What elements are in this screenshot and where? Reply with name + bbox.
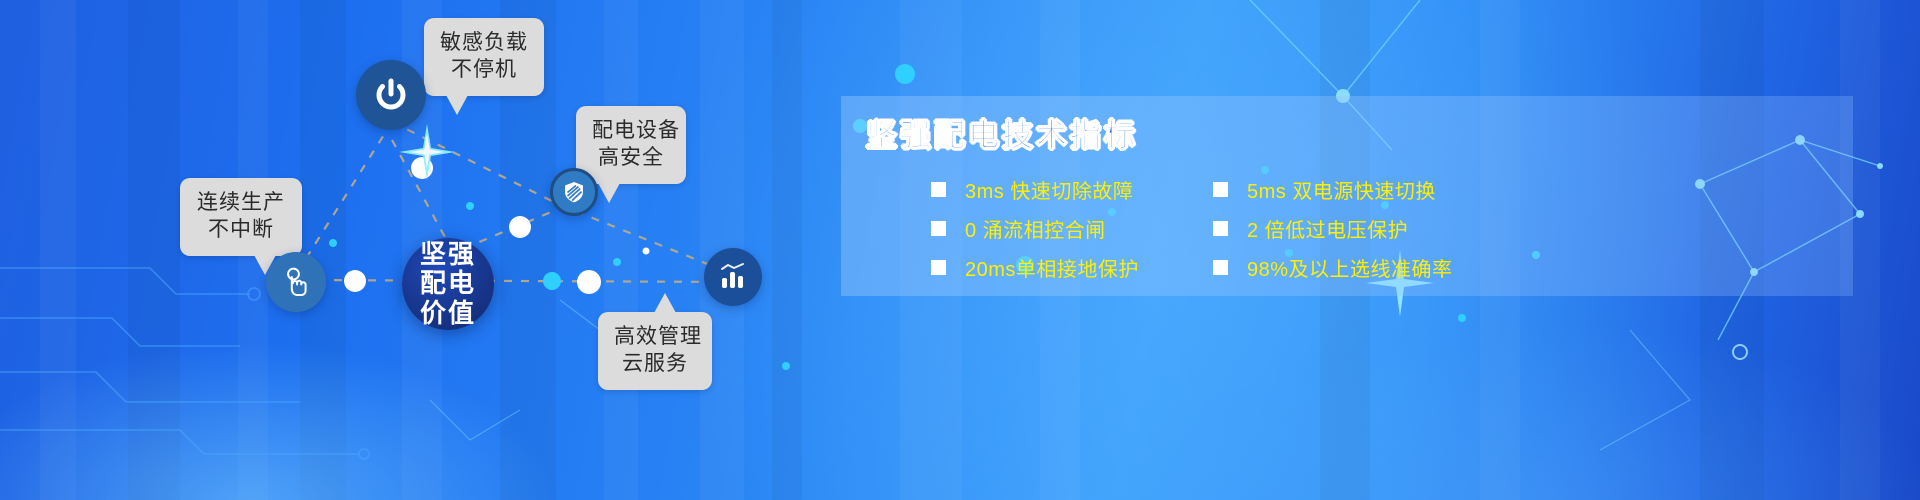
bubble-tail <box>598 183 620 203</box>
bar-chart-icon <box>717 261 749 293</box>
spec-item[interactable]: 20ms单相接地保护 <box>931 248 1211 287</box>
spec-label: 3ms 快速切除故障 <box>965 175 1133 204</box>
callout-line: 高安全 <box>592 145 670 172</box>
bullet-square-icon <box>931 260 946 275</box>
node-hand-pointer[interactable] <box>266 252 326 312</box>
spec-item[interactable]: 5ms 双电源快速切换 <box>1211 170 1831 209</box>
callout-line: 配电设备 <box>592 118 670 145</box>
power-icon <box>371 75 411 115</box>
callout-line: 云服务 <box>614 351 696 378</box>
spec-label: 2 倍低过电压保护 <box>1247 214 1408 243</box>
spec-item[interactable]: 0 涌流相控合闸 <box>931 209 1211 248</box>
bullet-square-icon <box>1213 182 1228 197</box>
spec-item[interactable]: 3ms 快速切除故障 <box>931 170 1211 209</box>
node-power[interactable] <box>356 60 426 130</box>
spec-item[interactable]: 98%及以上选线准确率 <box>1211 248 1831 287</box>
shield-icon <box>562 180 586 204</box>
spec-list: 3ms 快速切除故障 5ms 双电源快速切换 0 涌流相控合闸 2 倍低过电压保… <box>931 170 1831 287</box>
callout-continuous-production[interactable]: 连续生产 不中断 <box>180 178 302 256</box>
bullet-square-icon <box>1213 221 1228 236</box>
spec-label: 0 涌流相控合闸 <box>965 214 1106 243</box>
bullet-square-icon <box>931 221 946 236</box>
core-line: 坚强 <box>420 240 476 269</box>
spec-label: 20ms单相接地保护 <box>965 253 1139 282</box>
core-value-node[interactable]: 坚强 配电 价值 <box>402 238 494 330</box>
callout-sensitive-load[interactable]: 敏感负载 不停机 <box>424 18 544 96</box>
callout-equipment-safety[interactable]: 配电设备 高安全 <box>576 106 686 184</box>
bubble-tail <box>654 293 676 313</box>
callout-cloud-service[interactable]: 高效管理 云服务 <box>598 312 712 390</box>
core-line: 价值 <box>420 299 476 328</box>
hand-pointer-icon <box>279 265 313 299</box>
panel-title: 坚强配电技术指标 <box>866 110 1138 155</box>
bullet-square-icon <box>1213 260 1228 275</box>
bubble-tail <box>446 95 468 115</box>
callout-line: 连续生产 <box>196 190 286 217</box>
spec-label: 98%及以上选线准确率 <box>1247 253 1453 282</box>
spec-label: 5ms 双电源快速切换 <box>1247 175 1436 204</box>
banner-root: 敏感负载 不停机 配电设备 高安全 连续生产 不中断 高效管理 云服务 <box>0 0 1920 500</box>
core-line: 配电 <box>420 269 476 298</box>
node-bar-chart[interactable] <box>704 248 762 306</box>
callout-line: 敏感负载 <box>440 30 528 57</box>
callout-line: 不中断 <box>196 217 286 244</box>
tech-spec-panel: 坚强配电技术指标 3ms 快速切除故障 5ms 双电源快速切换 0 涌流相控合闸… <box>841 96 1853 296</box>
bullet-square-icon <box>931 182 946 197</box>
node-shield[interactable] <box>550 168 598 216</box>
callout-line: 不停机 <box>440 57 528 84</box>
spec-item[interactable]: 2 倍低过电压保护 <box>1211 209 1831 248</box>
callout-line: 高效管理 <box>614 324 696 351</box>
